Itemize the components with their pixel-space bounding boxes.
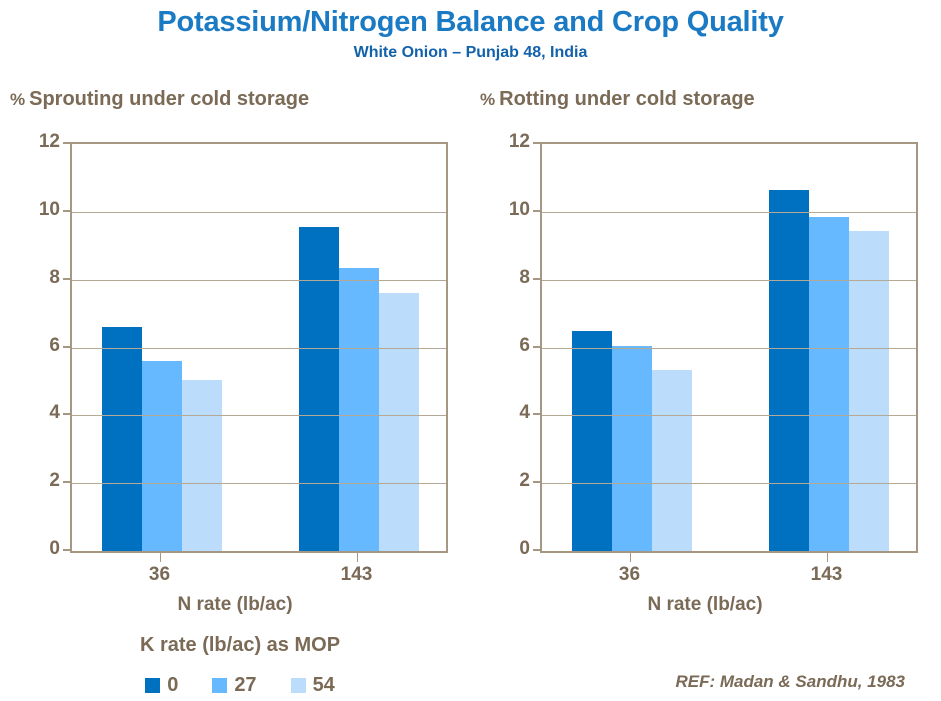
x-axis-tick-mark — [827, 553, 828, 562]
y-axis-tick-label: 6 — [486, 335, 530, 357]
x-axis-tick-label: 36 — [619, 564, 640, 586]
y-axis-tick-mark — [63, 481, 72, 483]
y-axis-tick-label: 0 — [486, 538, 530, 560]
x-axis-title-sprouting: N rate (lb/ac) — [0, 594, 470, 616]
gridline — [72, 348, 446, 349]
gridline — [542, 212, 916, 213]
x-axis-tick-label: 143 — [811, 564, 843, 586]
bar[interactable] — [612, 346, 652, 551]
legend-item[interactable]: 27 — [212, 674, 256, 697]
y-axis-tick-mark — [533, 413, 542, 415]
bar[interactable] — [849, 231, 889, 552]
y-axis-tick-label: 12 — [16, 131, 60, 153]
gridline — [542, 348, 916, 349]
legend-title: K rate (lb/ac) as MOP — [0, 634, 480, 657]
legend-item[interactable]: 54 — [291, 674, 335, 697]
bar[interactable] — [182, 380, 222, 551]
chart-title-sprouting: %Sprouting under cold storage — [10, 88, 309, 111]
legend-label: 0 — [167, 674, 178, 697]
gridline — [542, 280, 916, 281]
y-axis-tick-mark — [63, 142, 72, 144]
y-axis-tick-label: 10 — [16, 199, 60, 221]
bar[interactable] — [102, 327, 142, 551]
percent-symbol: % — [10, 90, 25, 109]
percent-symbol: % — [480, 90, 495, 109]
legend-label: 54 — [313, 674, 335, 697]
legend-swatch-icon — [291, 678, 306, 693]
y-axis-tick-mark — [63, 413, 72, 415]
y-axis-tick-mark — [533, 481, 542, 483]
gridline — [72, 415, 446, 416]
chart-title-text: Sprouting under cold storage — [29, 88, 309, 110]
y-axis-tick-mark — [63, 346, 72, 348]
x-axis-title-rotting: N rate (lb/ac) — [470, 594, 940, 616]
x-axis-tick-label: 36 — [149, 564, 170, 586]
y-axis-tick-label: 2 — [486, 470, 530, 492]
chart-panel-sprouting: %Sprouting under cold storage N rate (lb… — [0, 0, 470, 640]
bar[interactable] — [769, 190, 809, 551]
bar[interactable] — [572, 331, 612, 551]
y-axis-tick-label: 12 — [486, 131, 530, 153]
legend-label: 27 — [234, 674, 256, 697]
y-axis-tick-mark — [533, 142, 542, 144]
y-axis-tick-label: 8 — [16, 267, 60, 289]
bar[interactable] — [652, 370, 692, 551]
y-axis-tick-mark — [533, 278, 542, 280]
legend-swatch-icon — [212, 678, 227, 693]
reference-citation: REF: Madan & Sandhu, 1983 — [675, 672, 905, 692]
gridline — [72, 212, 446, 213]
bar[interactable] — [142, 361, 182, 551]
x-axis-tick-mark — [357, 553, 358, 562]
y-axis-tick-mark — [533, 210, 542, 212]
bar[interactable] — [809, 217, 849, 551]
y-axis-tick-mark — [63, 278, 72, 280]
gridline — [72, 280, 446, 281]
chart-panel-rotting: %Rotting under cold storage N rate (lb/a… — [470, 0, 940, 640]
bar[interactable] — [299, 227, 339, 551]
y-axis-tick-mark — [63, 210, 72, 212]
gridline — [542, 415, 916, 416]
x-axis-tick-label: 143 — [341, 564, 373, 586]
y-axis-tick-mark — [533, 549, 542, 551]
y-axis-tick-label: 8 — [486, 267, 530, 289]
gridline — [542, 483, 916, 484]
y-axis-tick-label: 4 — [16, 402, 60, 424]
bar[interactable] — [339, 268, 379, 551]
y-axis-tick-label: 2 — [16, 470, 60, 492]
legend: 02754 — [0, 674, 480, 697]
y-axis-tick-mark — [533, 346, 542, 348]
bar[interactable] — [379, 293, 419, 551]
x-axis-tick-mark — [630, 553, 631, 562]
chart-title-text: Rotting under cold storage — [499, 88, 755, 110]
legend-item[interactable]: 0 — [145, 674, 178, 697]
y-axis-tick-label: 4 — [486, 402, 530, 424]
y-axis-tick-label: 0 — [16, 538, 60, 560]
plot-area-sprouting — [70, 142, 448, 553]
y-axis-tick-mark — [63, 549, 72, 551]
chart-title-rotting: %Rotting under cold storage — [480, 88, 755, 111]
gridline — [72, 483, 446, 484]
y-axis-tick-label: 10 — [486, 199, 530, 221]
legend-swatch-icon — [145, 678, 160, 693]
y-axis-tick-label: 6 — [16, 335, 60, 357]
plot-area-rotting — [540, 142, 918, 553]
x-axis-tick-mark — [160, 553, 161, 562]
